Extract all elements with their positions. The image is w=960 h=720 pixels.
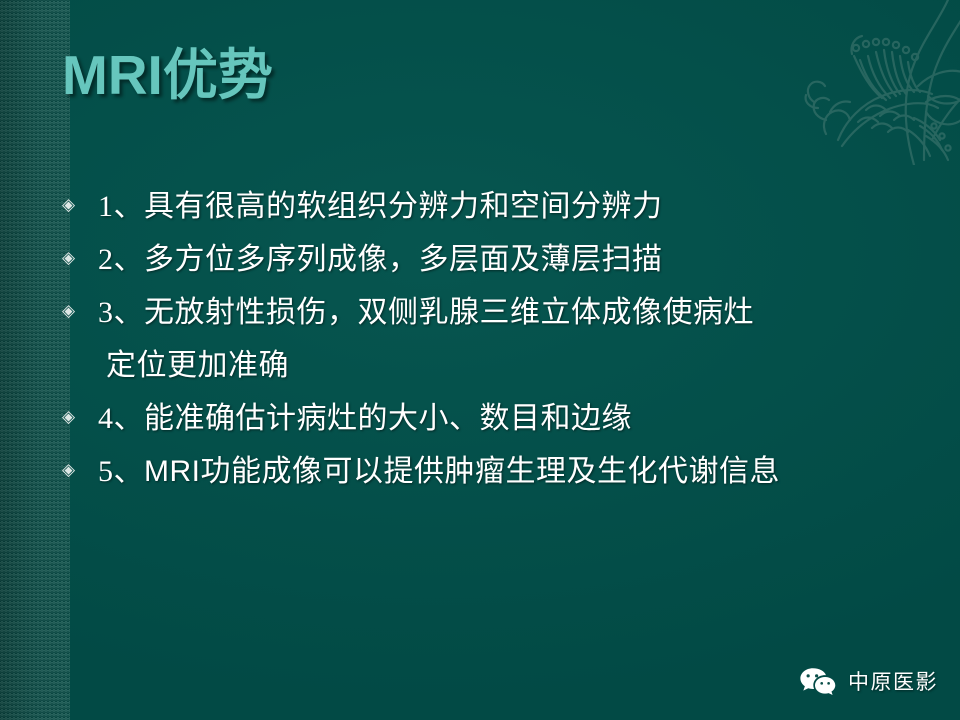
diamond-bullet-icon: ◈ — [56, 250, 98, 267]
diamond-bullet-icon: ◈ — [56, 197, 98, 214]
list-item-body: 无放射性损伤，双侧乳腺三维立体成像使病灶 — [144, 296, 754, 329]
wechat-icon — [799, 666, 837, 696]
bullet-list: ◈ 1、具有很高的软组织分辨力和空间分辨力 ◈ 2、多方位多序列成像，多层面及薄… — [56, 192, 954, 510]
presentation-slide: MRI优势 ◈ 1、具有很高的软组织分辨力和空间分辨力 ◈ 2、多方位多序列成像… — [0, 0, 960, 720]
diamond-bullet-icon: ◈ — [56, 409, 98, 426]
list-item-number: 4、 — [98, 402, 144, 435]
list-item-acronym: MRI — [144, 455, 201, 488]
list-item-text: 2、多方位多序列成像，多层面及薄层扫描 — [98, 245, 954, 275]
list-item: ◈ 2、多方位多序列成像，多层面及薄层扫描 — [56, 245, 954, 298]
diamond-bullet-icon: ◈ — [56, 303, 98, 320]
list-item-number: 2、 — [98, 243, 144, 276]
list-item-text: 定位更加准确 — [98, 351, 954, 381]
list-item-continuation: 定位更加准确 — [56, 351, 954, 404]
phoenix-ornament-icon — [796, 0, 960, 165]
watermark-label: 中原医影 — [848, 666, 938, 696]
list-item-number: 3、 — [98, 296, 144, 329]
list-item-body: 具有很高的软组织分辨力和空间分辨力 — [144, 190, 663, 223]
list-item-body: 功能成像可以提供肿瘤生理及生化代谢信息 — [201, 455, 781, 488]
list-item-body: 能准确估计病灶的大小、数目和边缘 — [144, 402, 632, 435]
list-item-number: 1、 — [98, 190, 144, 223]
list-item: ◈ 3、无放射性损伤，双侧乳腺三维立体成像使病灶 — [56, 298, 954, 351]
watermark: 中原医影 — [799, 666, 938, 696]
list-item-text: 5、MRI功能成像可以提供肿瘤生理及生化代谢信息 — [98, 457, 954, 487]
list-item-text: 3、无放射性损伤，双侧乳腺三维立体成像使病灶 — [98, 298, 954, 328]
diamond-bullet-icon: ◈ — [56, 462, 98, 479]
list-item-body: 多方位多序列成像，多层面及薄层扫描 — [144, 243, 663, 276]
list-item: ◈ 5、MRI功能成像可以提供肿瘤生理及生化代谢信息 — [56, 457, 954, 510]
list-item-text: 4、能准确估计病灶的大小、数目和边缘 — [98, 404, 954, 434]
page-title-latin: MRI — [62, 44, 163, 106]
page-title: MRI优势 — [62, 47, 273, 105]
list-item-text: 1、具有很高的软组织分辨力和空间分辨力 — [98, 192, 954, 222]
list-item: ◈ 4、能准确估计病灶的大小、数目和边缘 — [56, 404, 954, 457]
list-item-number: 5、 — [98, 455, 144, 488]
page-title-cjk: 优势 — [163, 45, 273, 106]
list-item-body: 定位更加准确 — [106, 349, 289, 382]
list-item: ◈ 1、具有很高的软组织分辨力和空间分辨力 — [56, 192, 954, 245]
